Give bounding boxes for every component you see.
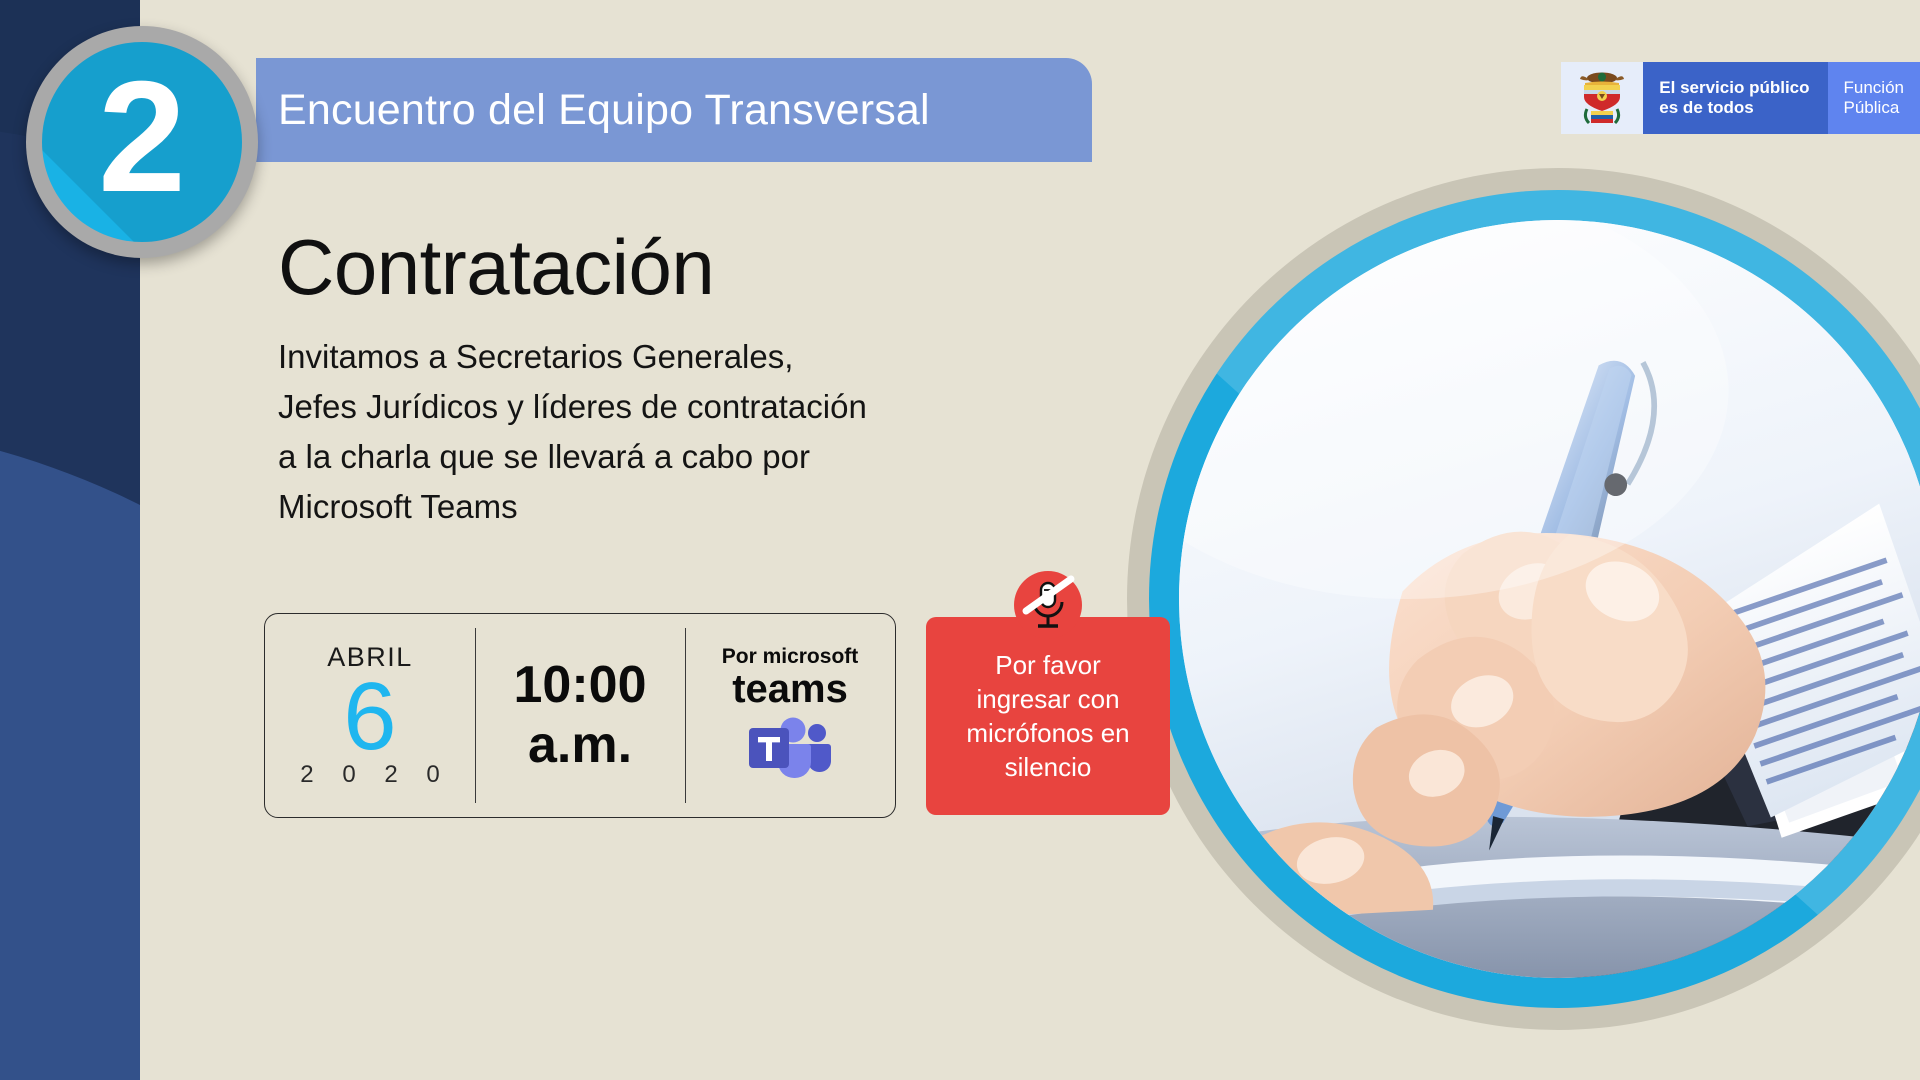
slide-title: Encuentro del Equipo Transversal bbox=[278, 86, 930, 135]
slogan-line-2: es de todos bbox=[1659, 98, 1809, 118]
presentation-slide: Encuentro del Equipo Transversal 2 bbox=[0, 0, 1920, 1080]
hand-signing-document-photo bbox=[1179, 220, 1920, 978]
paragraph-line: a la charla que se llevará a cabo por bbox=[278, 432, 867, 482]
paragraph-line: Jefes Jurídicos y líderes de contratació… bbox=[278, 382, 867, 432]
badge-number: 2 bbox=[26, 26, 258, 258]
microphone-muted-icon bbox=[1014, 571, 1082, 639]
platform-name: teams bbox=[732, 668, 848, 710]
entity-line-2: Pública bbox=[1844, 98, 1904, 118]
date-day: 6 bbox=[343, 673, 396, 761]
date-cell: ABRIL 6 2 0 2 0 bbox=[265, 614, 475, 817]
title-banner: Encuentro del Equipo Transversal bbox=[256, 58, 1092, 162]
paragraph-line: Microsoft Teams bbox=[278, 482, 867, 532]
coat-of-arms-icon bbox=[1561, 62, 1643, 134]
mute-notice-text: Por favor ingresar con micrófonos en sil… bbox=[956, 648, 1139, 784]
mute-notice-box: Por favor ingresar con micrófonos en sil… bbox=[926, 617, 1170, 815]
notice-line: Por favor bbox=[966, 648, 1129, 682]
invitation-paragraph: Invitamos a Secretarios Generales, Jefes… bbox=[278, 332, 867, 532]
platform-cell: Por microsoft teams bbox=[685, 614, 895, 817]
time-hour: 10:00 bbox=[514, 656, 647, 715]
slogan-line-1: El servicio público bbox=[1659, 78, 1809, 98]
event-details-box: ABRIL 6 2 0 2 0 10:00 a.m. Por microsoft… bbox=[264, 613, 896, 818]
step-number-badge: 2 bbox=[26, 26, 258, 258]
notice-line: micrófonos en bbox=[966, 716, 1129, 750]
government-logo: El servicio público es de todos Función … bbox=[1561, 62, 1920, 134]
entity-line-1: Función bbox=[1844, 78, 1904, 98]
paragraph-line: Invitamos a Secretarios Generales, bbox=[278, 332, 867, 382]
time-meridiem: a.m. bbox=[528, 716, 632, 775]
time-cell: 10:00 a.m. bbox=[475, 614, 685, 817]
government-slogan: El servicio público es de todos bbox=[1643, 62, 1827, 134]
government-entity-name: Función Pública bbox=[1828, 62, 1920, 134]
page-title: Contratación bbox=[278, 222, 714, 313]
date-year: 2 0 2 0 bbox=[289, 763, 450, 787]
platform-prefix: Por microsoft bbox=[722, 646, 859, 667]
notice-line: silencio bbox=[966, 750, 1129, 784]
notice-line: ingresar con bbox=[966, 682, 1129, 716]
microsoft-teams-logo-icon bbox=[747, 716, 833, 785]
